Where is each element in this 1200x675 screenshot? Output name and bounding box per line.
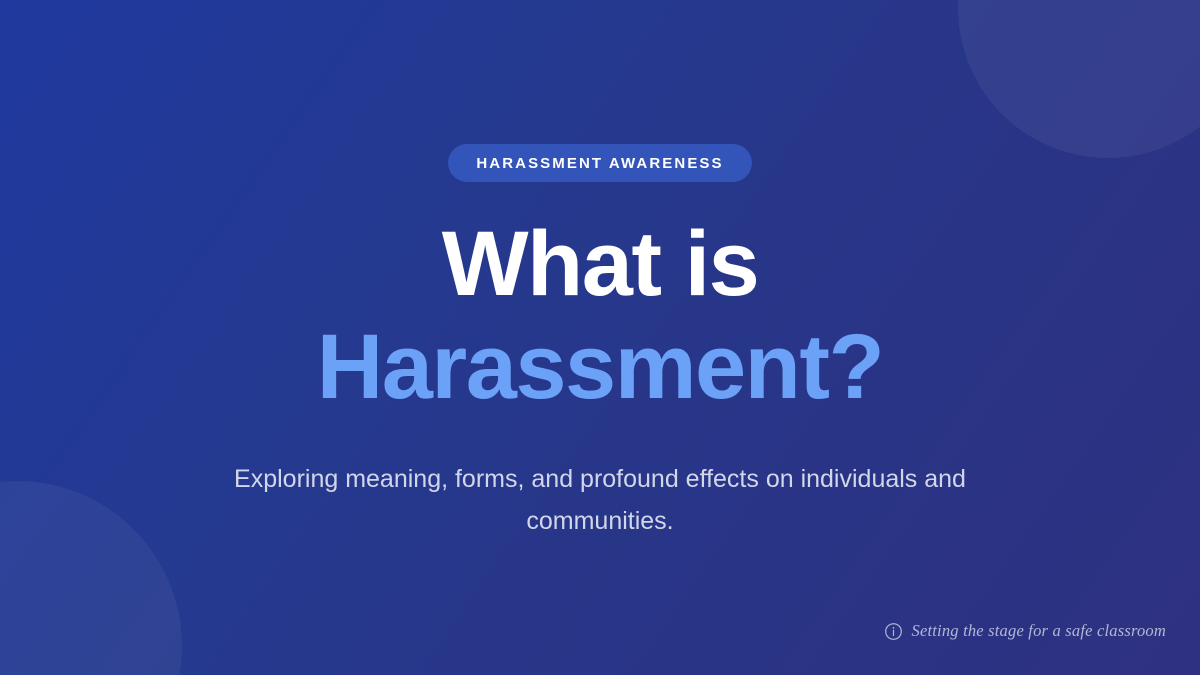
slide-title: What is Harassment? (317, 213, 883, 419)
slide-footer-note: Setting the stage for a safe classroom (884, 621, 1166, 641)
slide-subtitle: Exploring meaning, forms, and profound e… (220, 458, 980, 542)
slide-badge: HARASSMENT AWARENESS (448, 144, 751, 182)
slide-content: HARASSMENT AWARENESS What is Harassment?… (0, 0, 1200, 675)
slide-title-line-1: What is (317, 213, 883, 316)
slide-footer-text: Setting the stage for a safe classroom (912, 621, 1166, 641)
info-circle-icon (884, 622, 903, 641)
slide-title-line-2: Harassment? (317, 316, 883, 419)
presentation-slide: HARASSMENT AWARENESS What is Harassment?… (0, 0, 1200, 675)
